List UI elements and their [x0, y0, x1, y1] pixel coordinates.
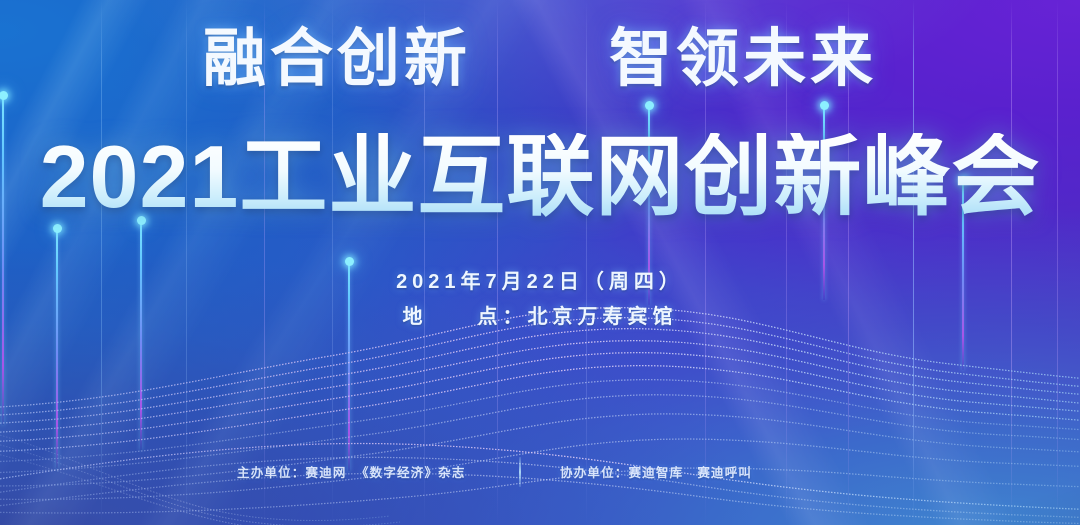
poster-tagline: 融合创新 智领未来 [0, 28, 1080, 91]
conference-poster-banner: 融合创新 智领未来 2021工业互联网创新峰会 2021年7月22日（周四） 地… [0, 0, 1080, 525]
organizer-credit: 主办单位：赛迪网 《数字经济》杂志 [237, 462, 466, 481]
event-venue: 地 点：北京万寿宾馆 [0, 300, 1080, 329]
footer-divider [519, 457, 521, 487]
event-date: 2021年7月22日（周四） [0, 265, 1080, 294]
co-organizer-credit: 协办单位：赛迪智库 赛迪呼叫 [560, 462, 752, 481]
poster-main-title: 2021工业互联网创新峰会 [0, 133, 1080, 221]
